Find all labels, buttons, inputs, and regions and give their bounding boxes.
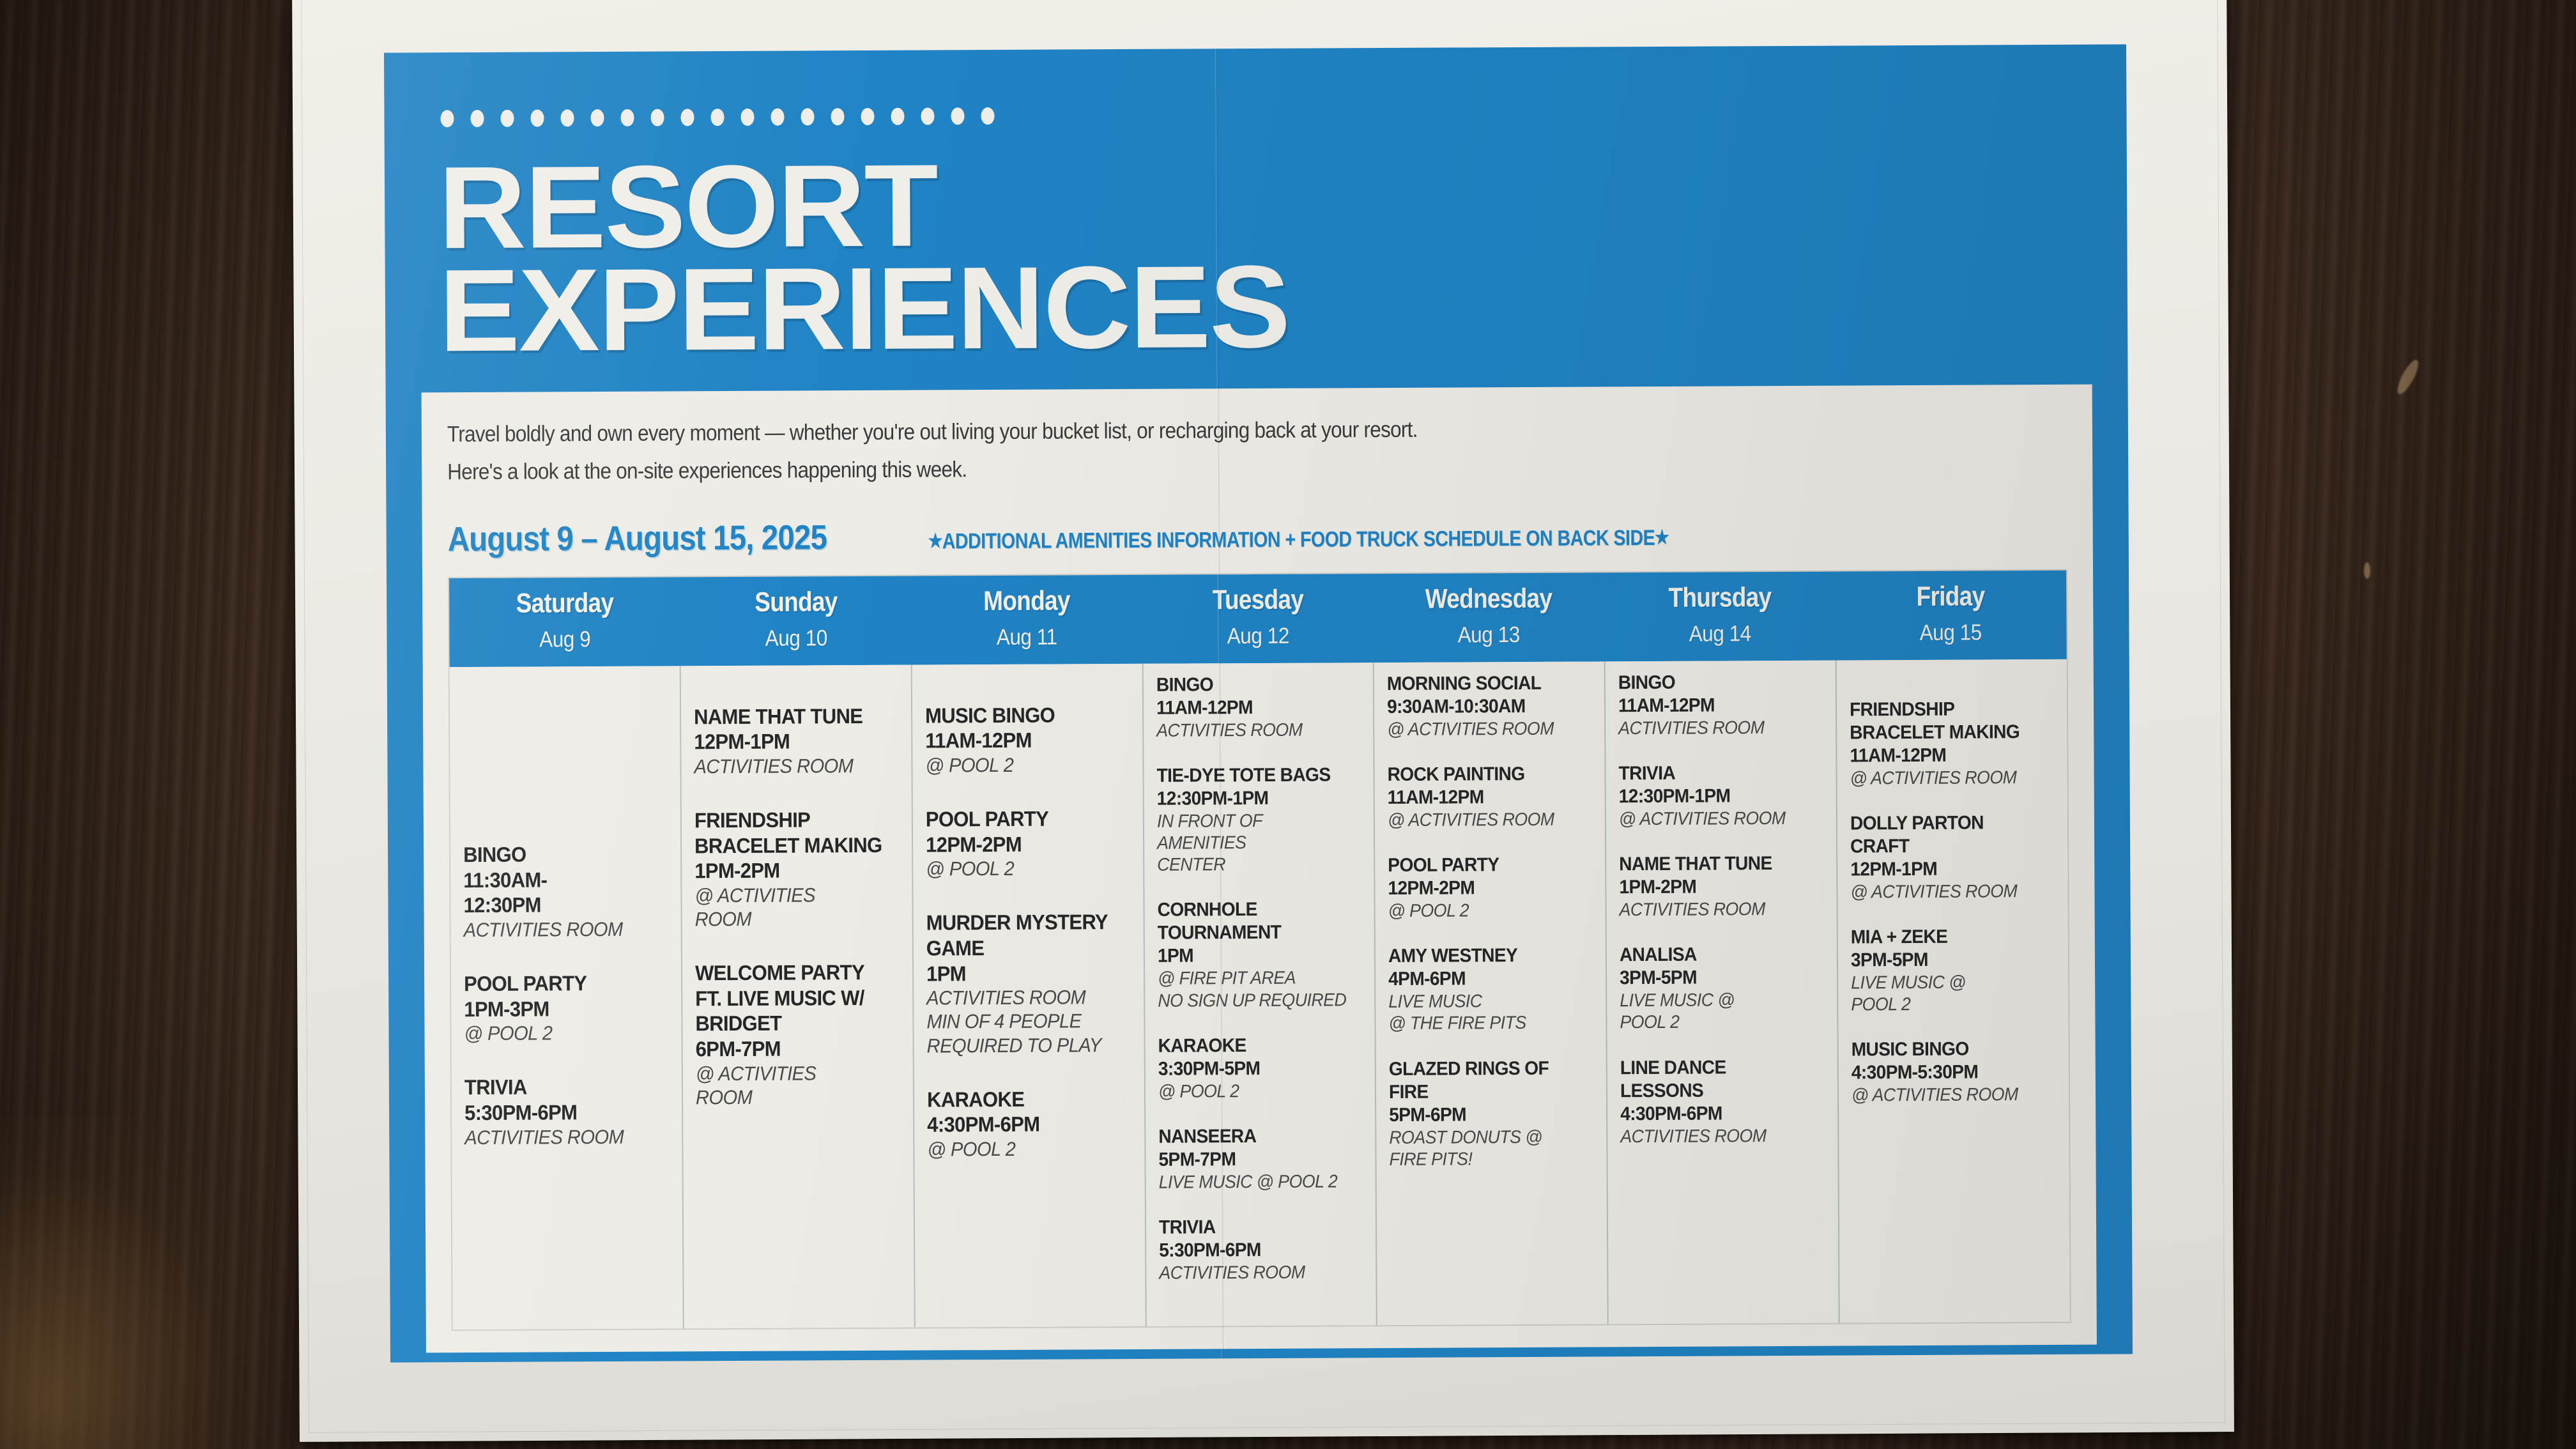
day-date: Aug 15 [1850,620,2053,647]
schedule-column-tuesday: BINGO11AM-12PMACTIVITIES ROOMTIE-DYE TOT… [1143,663,1377,1326]
event-time: 11:30AM-12:30PM [463,866,657,918]
schedule-event[interactable]: MUSIC BINGO4:30PM-5:30PM@ ACTIVITIES ROO… [1851,1038,2057,1107]
decorative-dot-row [440,101,2090,128]
event-location: ACTIVITIES ROOM [1618,716,1812,739]
event-time: 3:30PM-5PM [1158,1057,1351,1080]
event-time: 1PM-3PM [464,995,657,1022]
day-name: Monday [930,585,1124,617]
event-title: FRIENDSHIPBRACELET MAKING [694,807,888,859]
event-location: @ ACTIVITIES ROOM [1388,717,1581,740]
event-location: @ ACTIVITIES ROOM [1851,880,2044,903]
event-time: 12PM-2PM [926,831,1119,857]
day-date: Aug 14 [1618,620,1821,647]
event-time: 11AM-12PM [1850,744,2043,767]
schedule-event[interactable]: BINGO11AM-12PMACTIVITIES ROOM [1156,673,1361,742]
event-title: NAME THAT TUNE [694,703,887,729]
intro-line-1: Travel boldly and own every moment — whe… [447,410,1905,452]
decorative-dot [831,108,844,125]
event-title: NAME THAT TUNE [1619,852,1813,876]
event-location: LIVE MUSIC @ POOL 2 [1158,1170,1352,1193]
event-title: MIA + ZEKE [1851,925,2044,949]
day-name: Tuesday [1161,584,1355,616]
event-location: @ POOL 2 [927,1137,1121,1161]
event-time: 11AM-12PM [1388,785,1581,809]
decorative-dot [560,109,574,126]
schedule-header-saturday[interactable]: SaturdayAug 9 [449,577,680,667]
decorative-dot [440,110,454,127]
event-time: 11AM-12PM [925,727,1119,753]
schedule-event[interactable]: FRIENDSHIPBRACELET MAKING1PM-2PM@ ACTIVI… [694,807,901,931]
event-title: MORNING SOCIAL [1387,671,1581,695]
event-time: 12PM-1PM [1850,857,2044,881]
event-title: ROCK PAINTING [1388,762,1581,786]
schedule-event[interactable]: POOL PARTY1PM-3PM@ POOL 2 [464,970,670,1046]
schedule-event[interactable]: NAME THAT TUNE1PM-2PMACTIVITIES ROOM [1619,852,1825,921]
event-title: BINGO [463,841,657,868]
decorative-dot [710,109,724,126]
event-time: 5PM-7PM [1158,1147,1352,1171]
day-date: Aug 10 [694,625,898,652]
day-name: Wednesday [1391,583,1586,615]
schedule-event[interactable]: MURDER MYSTERYGAME1PMACTIVITIES ROOMMIN … [926,909,1132,1057]
event-time: 1PM-2PM [694,857,888,884]
event-time: 11AM-12PM [1618,693,1812,717]
schedule-event[interactable]: NAME THAT TUNE12PM-1PMACTIVITIES ROOM [694,703,900,778]
event-title: POOL PARTY [464,970,657,997]
decorative-dot [921,107,934,125]
schedule-event[interactable]: AMY WESTNEY4PM-6PMLIVE MUSIC@ THE FIRE P… [1388,944,1595,1035]
decorative-dot [620,109,634,126]
schedule-event[interactable]: FRIENDSHIPBRACELET MAKING11AM-12PM@ ACTI… [1850,698,2056,790]
schedule-event[interactable]: KARAOKE3:30PM-5PM@ POOL 2 [1158,1034,1363,1103]
event-title: KARAOKE [927,1086,1121,1112]
event-title: BINGO [1156,673,1349,696]
event-location: @ ACTIVITIES ROOM [1851,1084,2045,1107]
event-title: LINE DANCELESSONS [1620,1055,1814,1102]
day-name: Thursday [1623,581,1817,613]
resort-experiences-flyer: RESORT EXPERIENCES Travel boldly and own… [384,44,2133,1362]
schedule-event[interactable]: MORNING SOCIAL9:30AM-10:30AM@ ACTIVITIES… [1387,671,1593,740]
schedule-event[interactable]: KARAOKE4:30PM-6PM@ POOL 2 [927,1086,1133,1161]
schedule-event[interactable]: TRIVIA12:30PM-1PM@ ACTIVITIES ROOM [1619,762,1825,831]
event-location: @ ACTIVITIES ROOM [1850,767,2044,790]
schedule-header-friday[interactable]: FridayAug 15 [1835,570,2066,660]
weekly-schedule-table: SaturdayAug 9SundayAug 10MondayAug 11Tue… [448,569,2071,1331]
event-title: TRIVIA [464,1074,658,1100]
decorative-dot [530,109,544,126]
decorative-dot [680,109,694,126]
event-title: KARAOKE [1158,1034,1351,1057]
schedule-event[interactable]: ROCK PAINTING11AM-12PM@ ACTIVITIES ROOM [1388,762,1593,831]
event-location: @ ACTIVITIES ROOM [1619,808,1813,831]
intro-paragraph: Travel boldly and own every moment — whe… [447,410,1905,490]
schedule-event[interactable]: WELCOME PARTYFT. LIVE MUSIC W/BRIDGET6PM… [695,960,901,1109]
event-time: 5:30PM-6PM [1159,1238,1353,1262]
day-date: Aug 13 [1387,622,1590,648]
event-title: MUSIC BINGO [1851,1038,2045,1061]
event-location: @ POOL 2 [464,1021,657,1046]
day-date: Aug 11 [925,624,1128,651]
event-location: LIVE MUSIC @POOL 2 [1851,971,2044,1016]
event-location: LIVE MUSIC @POOL 2 [1620,989,1813,1034]
event-location: @ ACTIVITIESROOM [694,883,888,931]
event-location: ACTIVITIES ROOM [1159,1261,1353,1284]
event-location: ROAST DONUTS @FIRE PITS! [1390,1126,1583,1170]
schedule-event[interactable]: MIA + ZEKE3PM-5PMLIVE MUSIC @POOL 2 [1851,925,2057,1016]
event-location: @ POOL 2 [1158,1080,1351,1103]
day-name: Saturday [468,587,662,619]
event-location: @ POOL 2 [1388,900,1582,923]
event-location: @ POOL 2 [926,856,1119,881]
event-location: ACTIVITIES ROOMMIN OF 4 PEOPLEREQUIRED T… [926,985,1120,1057]
event-location: ACTIVITIES ROOM [1156,719,1350,742]
day-date: Aug 9 [463,626,666,653]
schedule-event[interactable]: ANALISA3PM-5PMLIVE MUSIC @POOL 2 [1620,943,1826,1034]
event-time: 4:30PM-6PM [1620,1101,1814,1125]
schedule-event[interactable]: TRIVIA5:30PM-6PMACTIVITIES ROOM [1159,1215,1365,1284]
event-time: 11AM-12PM [1156,696,1350,719]
decorative-dot [861,107,874,125]
decorative-dot [981,107,994,125]
schedule-event[interactable]: LINE DANCELESSONS4:30PM-6PMACTIVITIES RO… [1620,1055,1827,1147]
decorative-dot [650,109,664,126]
event-title: POOL PARTY [926,806,1119,832]
schedule-header-tuesday[interactable]: TuesdayAug 12 [1142,574,1374,664]
star-icon: ★ [928,530,942,551]
event-time: 1PM [1157,944,1351,968]
decorative-dot [470,109,484,126]
day-name: Sunday [698,586,893,618]
event-time: 3PM-5PM [1620,966,1813,990]
event-time: 6PM-7PM [695,1036,889,1062]
schedule-event[interactable]: GLAZED RINGS OFFIRE5PM-6PMROAST DONUTS @… [1389,1057,1595,1170]
event-time: 4:30PM-5:30PM [1851,1061,2045,1084]
day-date: Aug 12 [1156,623,1360,650]
decorative-dot [801,108,814,125]
schedule-header-row: SaturdayAug 9SundayAug 10MondayAug 11Tue… [449,570,2067,666]
event-time: 12PM-2PM [1388,877,1582,900]
event-location: ACTIVITIES ROOM [464,1124,658,1149]
event-location: IN FRONT OF AMENITIESCENTER [1156,809,1350,876]
schedule-header-sunday[interactable]: SundayAug 10 [680,576,912,666]
event-title: NANSEERA [1158,1124,1352,1148]
event-location: @ ACTIVITIESROOM [696,1061,889,1109]
event-title: AMY WESTNEY [1388,944,1582,968]
event-location: @ ACTIVITIES ROOM [1388,808,1581,831]
event-title: GLAZED RINGS OFFIRE [1389,1057,1583,1103]
schedule-event[interactable]: POOL PARTY12PM-2PM@ POOL 2 [1388,853,1594,922]
event-time: 4PM-6PM [1388,967,1582,991]
schedule-event[interactable]: CORNHOLE TOURNAMENT1PM@ FIRE PIT AREANO … [1157,898,1363,1012]
event-location: ACTIVITIES ROOM [694,754,887,779]
decorative-dot [951,107,964,125]
event-time: 12PM-1PM [694,728,887,755]
flyer-title: RESORT EXPERIENCES [438,148,2092,362]
content-panel: Travel boldly and own every moment — whe… [422,385,2097,1353]
event-title: TIE-DYE TOTE BAGS [1156,763,1350,787]
event-title: ANALISA [1620,943,1813,967]
event-title: POOL PARTY [1388,854,1582,877]
wood-speck [2394,357,2422,396]
event-location: ACTIVITIES ROOM [464,917,657,942]
schedule-header-wednesday[interactable]: WednesdayAug 13 [1373,572,1604,663]
event-location: ACTIVITIES ROOM [1620,898,1813,921]
event-title: CORNHOLE TOURNAMENT [1157,898,1351,945]
schedule-column-monday: MUSIC BINGO11AM-12PM@ POOL 2POOL PARTY12… [912,664,1146,1328]
event-time: 12:30PM-1PM [1619,785,1813,808]
schedule-column-saturday: BINGO11:30AM-12:30PMACTIVITIES ROOMPOOL … [450,666,684,1330]
event-title: TRIVIA [1159,1215,1353,1239]
event-title: WELCOME PARTYFT. LIVE MUSIC W/BRIDGET [695,960,889,1036]
event-time: 4:30PM-6PM [927,1111,1121,1137]
event-title: MUSIC BINGO [925,702,1119,728]
event-time: 1PM-2PM [1620,875,1813,899]
event-time: 12:30PM-1PM [1156,786,1350,810]
wood-light-patch [0,1117,268,1449]
schedule-column-thursday: BINGO11AM-12PMACTIVITIES ROOMTRIVIA12:30… [1606,660,1840,1324]
schedule-column-friday: FRIENDSHIPBRACELET MAKING11AM-12PM@ ACTI… [1837,659,2070,1322]
title-line-experiences: EXPERIENCES [439,250,2133,362]
event-location: ACTIVITIES ROOM [1621,1124,1814,1147]
schedule-body-row: BINGO11:30AM-12:30PMACTIVITIES ROOMPOOL … [450,659,2070,1330]
schedule-event[interactable]: BINGO11AM-12PMACTIVITIES ROOM [1618,670,1824,739]
back-side-note: ★ADDITIONAL AMENITIES INFORMATION + FOOD… [928,526,1669,555]
event-time: 3PM-5PM [1851,948,2044,972]
day-name: Friday [1853,581,2048,613]
back-side-note-text: ADDITIONAL AMENITIES INFORMATION + FOOD … [942,526,1655,553]
date-range-row: August 9 – August 15, 2025 ★ADDITIONAL A… [448,511,2067,558]
decorative-dot [770,108,784,125]
schedule-event[interactable]: MUSIC BINGO11AM-12PM@ POOL 2 [925,702,1131,778]
event-location: @ FIRE PIT AREANO SIGN UP REQUIRED [1158,967,1351,1012]
star-icon: ★ [1655,527,1669,548]
decorative-dot [590,109,604,126]
wood-speck [2364,562,2370,579]
schedule-header-monday[interactable]: MondayAug 11 [911,575,1142,665]
decorative-dot [500,109,514,126]
intro-line-2: Here's a look at the on-site experiences… [447,447,1905,489]
schedule-column-sunday: NAME THAT TUNE12PM-1PMACTIVITIES ROOMFRI… [681,664,916,1328]
schedule-column-wednesday: MORNING SOCIAL9:30AM-10:30AM@ ACTIVITIES… [1374,661,1609,1325]
event-title: BINGO [1618,670,1812,694]
event-time: 5PM-6PM [1390,1103,1583,1126]
event-title: FRIENDSHIPBRACELET MAKING [1850,698,2043,744]
event-location: @ POOL 2 [925,753,1119,778]
schedule-event[interactable]: POOL PARTY12PM-2PM@ POOL 2 [926,806,1131,881]
event-time: 9:30AM-10:30AM [1387,694,1581,718]
event-location: LIVE MUSIC@ THE FIRE PITS [1389,990,1583,1035]
decorative-dot [891,107,904,125]
decorative-dot [740,108,754,125]
date-range-heading: August 9 – August 15, 2025 [448,517,827,559]
schedule-event[interactable]: DOLLY PARTONCRAFT12PM-1PM@ ACTIVITIES RO… [1850,811,2057,903]
event-time: 1PM [926,960,1120,986]
event-title: MURDER MYSTERYGAME [926,909,1119,961]
schedule-header-thursday[interactable]: ThursdayAug 14 [1604,571,1836,661]
schedule-event[interactable]: BINGO11:30AM-12:30PMACTIVITIES ROOM [463,841,670,942]
event-title: TRIVIA [1619,762,1813,785]
event-title: DOLLY PARTONCRAFT [1850,811,2044,858]
schedule-event[interactable]: TRIVIA5:30PM-6PMACTIVITIES ROOM [464,1074,670,1149]
schedule-event[interactable]: NANSEERA5PM-7PMLIVE MUSIC @ POOL 2 [1158,1124,1364,1193]
schedule-event[interactable]: TIE-DYE TOTE BAGS12:30PM-1PMIN FRONT OF … [1156,763,1363,876]
event-time: 5:30PM-6PM [464,1100,658,1126]
